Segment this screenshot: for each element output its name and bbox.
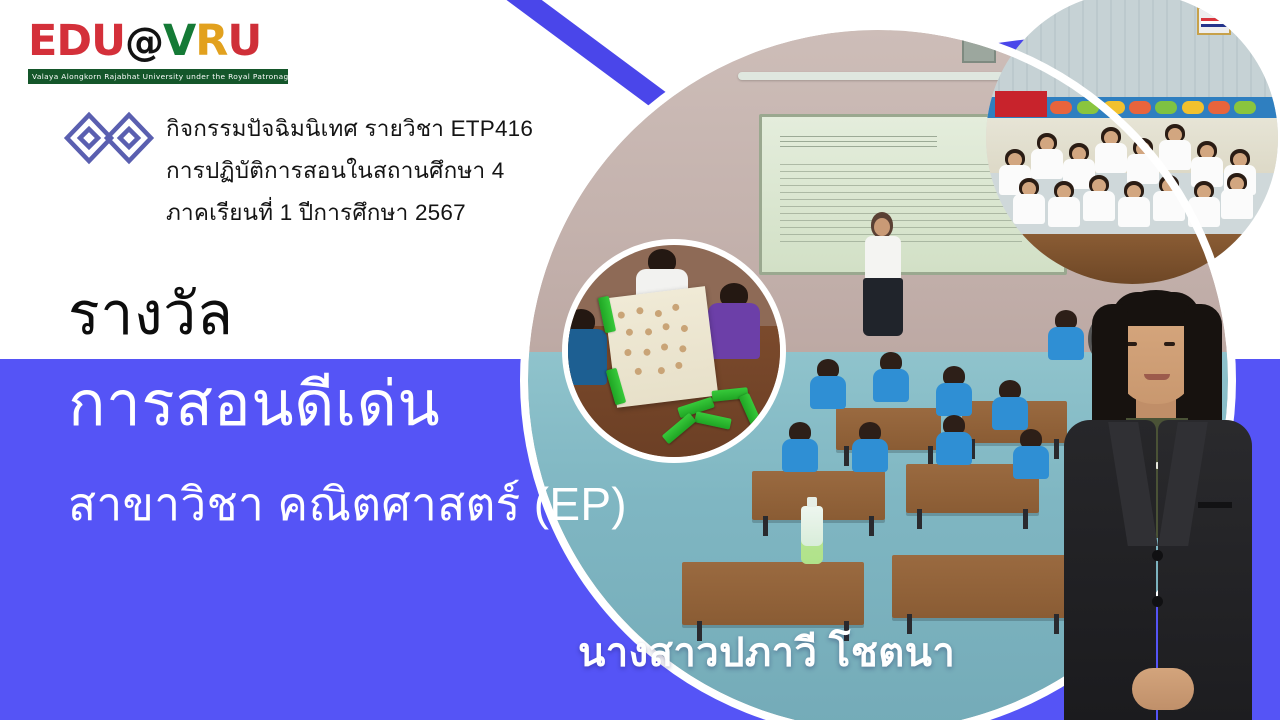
- logo-tagline: Valaya Alongkorn Rajabhat University und…: [28, 69, 288, 84]
- course-info-line-1: กิจกรรมปัจฉิมนิเทศ รายวิชา ETP416: [166, 108, 533, 150]
- hands-on-activity-photo: [568, 245, 780, 457]
- presenter-name: นางสาวปภาวี โชตนา: [578, 620, 955, 684]
- presenter-cutout-photo: [1040, 278, 1270, 720]
- poster-canvas: EDU@VRU Valaya Alongkorn Rajabhat Univer…: [0, 0, 1280, 720]
- logo-at-icon: @: [125, 20, 163, 65]
- award-label: รางวัล: [68, 283, 233, 345]
- award-title: การสอนดีเด่น: [68, 372, 440, 438]
- class-group-photo: [986, 0, 1278, 284]
- logo-v-text: V: [163, 16, 195, 66]
- logo-u-text: U: [227, 16, 261, 66]
- course-info-line-3: ภาคเรียนที่ 1 ปีการศึกษา 2567: [166, 192, 533, 234]
- interlocking-diamonds-icon: [63, 103, 155, 173]
- award-subject: สาขาวิชา คณิตศาสตร์ (EP): [68, 478, 627, 530]
- logo-edu-text: EDU: [28, 16, 125, 66]
- logo-wordmark: EDU@VRU: [28, 18, 288, 66]
- course-info-line-2: การปฏิบัติการสอนในสถานศึกษา 4: [166, 150, 533, 192]
- edu-vru-logo: EDU@VRU Valaya Alongkorn Rajabhat Univer…: [28, 18, 288, 84]
- course-info-block: กิจกรรมปัจฉิมนิเทศ รายวิชา ETP416 การปฏิ…: [166, 108, 533, 234]
- logo-r-text: R: [195, 16, 227, 66]
